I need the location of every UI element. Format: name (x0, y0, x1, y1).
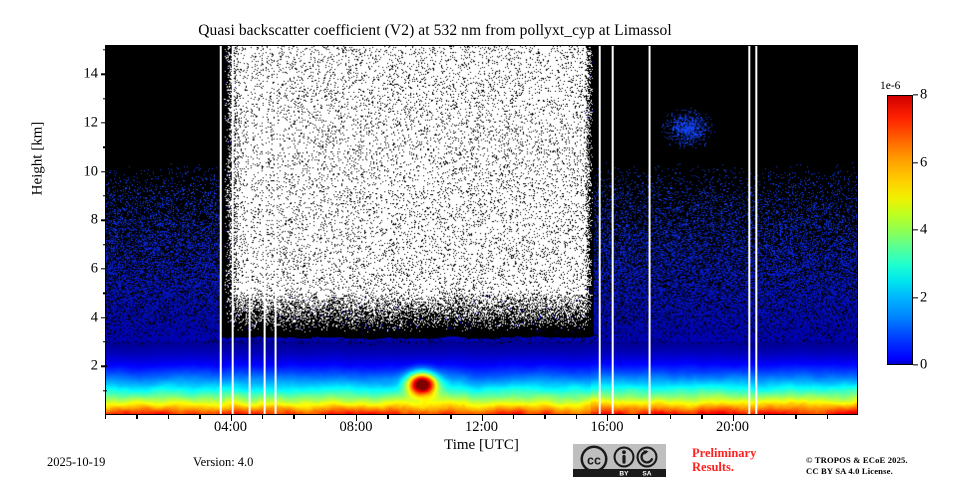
page-title: Quasi backscatter coefficient (V2) at 53… (0, 22, 870, 40)
colorbar-tick-label: 2 (920, 289, 927, 306)
y-tick-label: 14 (58, 66, 98, 83)
x-tick-label: 12:00 (447, 419, 517, 436)
colorbar-tick-label: 8 (920, 87, 927, 104)
footer-version: Version: 4.0 (193, 455, 253, 470)
colorbar-tick-mark (913, 162, 918, 163)
y-minor-tick-mark (103, 98, 107, 99)
heatmap-plot-area[interactable] (105, 45, 858, 415)
colorbar-tick-mark (913, 229, 918, 230)
y-minor-tick-mark (103, 244, 107, 245)
x-minor-tick-mark (638, 415, 639, 419)
y-minor-tick-mark (103, 293, 107, 294)
preliminary-line-1: Preliminary (692, 446, 756, 460)
y-minor-tick-mark (103, 341, 107, 342)
y-minor-tick-mark (103, 147, 107, 148)
x-minor-tick-mark (419, 415, 420, 419)
heatmap-canvas (106, 46, 857, 414)
x-tick-label: 08:00 (321, 419, 391, 436)
x-minor-tick-mark (105, 415, 106, 419)
x-tick-mark (231, 415, 232, 421)
x-minor-tick-mark (670, 415, 671, 419)
y-tick-label: 10 (58, 163, 98, 180)
colorbar-tick-mark (913, 364, 918, 365)
footer-date: 2025-10-19 (47, 455, 105, 470)
x-minor-tick-mark (136, 415, 137, 419)
x-minor-tick-mark (387, 415, 388, 419)
cc-by-label: BY (619, 471, 629, 477)
y-tick-mark (101, 220, 107, 221)
y-tick-label: 12 (58, 114, 98, 131)
x-minor-tick-mark (544, 415, 545, 419)
y-tick-mark (101, 366, 107, 367)
colorbar[interactable] (887, 95, 913, 365)
x-minor-tick-mark (827, 415, 828, 419)
preliminary-line-2: Results. (692, 460, 756, 474)
x-tick-mark (356, 415, 357, 421)
x-tick-mark (482, 415, 483, 421)
x-minor-tick-mark (701, 415, 702, 419)
colorbar-tick-label: 4 (920, 222, 927, 239)
colorbar-tick-label: 0 (920, 357, 927, 374)
x-tick-label: 16:00 (572, 419, 642, 436)
y-tick-mark (101, 122, 107, 123)
x-minor-tick-mark (576, 415, 577, 419)
y-axis-label: Height [km] (30, 59, 47, 259)
x-minor-tick-mark (325, 415, 326, 419)
x-minor-tick-mark (513, 415, 514, 419)
y-tick-mark (101, 317, 107, 318)
x-tick-mark (607, 415, 608, 421)
colorbar-gradient (887, 95, 913, 365)
x-minor-tick-mark (293, 415, 294, 419)
y-tick-label: 8 (58, 212, 98, 229)
x-minor-tick-mark (795, 415, 796, 419)
x-minor-tick-mark (168, 415, 169, 419)
svg-text:cc: cc (587, 454, 601, 468)
y-tick-mark (101, 74, 107, 75)
lidar-quicklook-figure: Quasi backscatter coefficient (V2) at 53… (0, 0, 960, 480)
x-minor-tick-mark (764, 415, 765, 419)
cc-sa-label: SA (642, 471, 651, 477)
x-minor-tick-mark (262, 415, 263, 419)
colorbar-tick-mark (913, 94, 918, 95)
colorbar-multiplier-label: 1e-6 (880, 80, 900, 92)
copyright-line-2: CC BY SA 4.0 License. (806, 466, 908, 477)
creative-commons-badge-icon[interactable]: cc BY SA (573, 444, 666, 477)
y-minor-tick-mark (103, 195, 107, 196)
copyright-notice: © TROPOS & ECoE 2025. CC BY SA 4.0 Licen… (806, 455, 908, 476)
y-tick-label: 6 (58, 260, 98, 277)
y-tick-mark (101, 268, 107, 269)
y-tick-label: 2 (58, 358, 98, 375)
y-minor-tick-mark (103, 49, 107, 50)
y-tick-mark (101, 171, 107, 172)
x-tick-mark (733, 415, 734, 421)
x-minor-tick-mark (450, 415, 451, 419)
x-tick-label: 04:00 (196, 419, 266, 436)
colorbar-tick-mark (913, 297, 918, 298)
colorbar-tick-label: 6 (920, 154, 927, 171)
x-minor-tick-mark (199, 415, 200, 419)
y-tick-label: 4 (58, 309, 98, 326)
preliminary-results-notice: Preliminary Results. (692, 446, 756, 474)
x-tick-label: 20:00 (698, 419, 768, 436)
y-minor-tick-mark (103, 390, 107, 391)
copyright-line-1: © TROPOS & ECoE 2025. (806, 455, 908, 466)
